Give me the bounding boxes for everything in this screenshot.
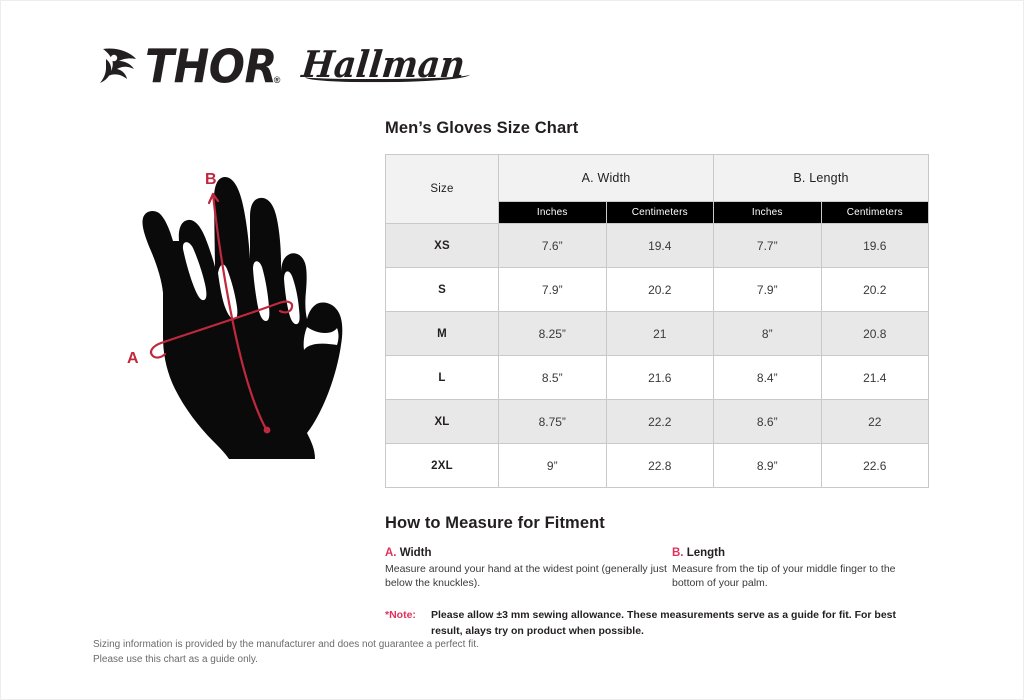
brand-logos: THOR ® Hallman: [97, 45, 465, 89]
how-to-measure-length-heading: B. Length: [672, 547, 929, 559]
hallman-logo: Hallman: [300, 47, 467, 84]
column-header-size: Size: [386, 155, 499, 224]
cell-length-centimeters: 21.4: [821, 356, 929, 400]
cell-length-centimeters: 20.8: [821, 312, 929, 356]
column-header-length-inches: Inches: [714, 202, 822, 224]
how-to-measure-width-letter: A.: [385, 547, 397, 559]
table-head: Size A. Width B. Length Inches Centimete…: [386, 155, 929, 224]
cell-width-centimeters: 22.2: [606, 400, 714, 444]
cell-length-inches: 8.4”: [714, 356, 822, 400]
thor-logo: THOR ®: [97, 45, 280, 89]
cell-length-inches: 8.6”: [714, 400, 822, 444]
thor-wordmark: THOR: [145, 44, 277, 90]
column-header-width-inches: Inches: [499, 202, 607, 224]
glove-illustration: B A: [101, 141, 367, 466]
cell-size: XL: [386, 400, 499, 444]
cell-length-inches: 8.9”: [714, 444, 822, 488]
cell-size: S: [386, 268, 499, 312]
table-row: 2XL 9” 22.8 8.9” 22.6: [386, 444, 929, 488]
cell-size: M: [386, 312, 499, 356]
note-label: *Note:: [385, 608, 431, 638]
chart-content: Men’s Gloves Size Chart Size A. Width B.…: [385, 119, 929, 639]
cell-width-inches: 8.25”: [499, 312, 607, 356]
cell-width-centimeters: 21: [606, 312, 714, 356]
how-to-measure-width-text: Measure around your hand at the widest p…: [385, 562, 672, 590]
cell-width-centimeters: 20.2: [606, 268, 714, 312]
table-head-row-groups: Size A. Width B. Length: [386, 155, 929, 202]
cell-length-inches: 8”: [714, 312, 822, 356]
how-to-measure-columns: A. Width Measure around your hand at the…: [385, 547, 929, 590]
how-to-measure-width-name: Width: [400, 547, 432, 559]
how-to-measure-length-text: Measure from the tip of your middle fing…: [672, 562, 929, 590]
how-to-measure-section: How to Measure for Fitment A. Width Meas…: [385, 514, 929, 639]
column-group-width: A. Width: [499, 155, 714, 202]
thor-helmet-hammer-icon: [97, 45, 143, 89]
size-chart-table: Size A. Width B. Length Inches Centimete…: [385, 154, 929, 488]
cell-width-centimeters: 21.6: [606, 356, 714, 400]
how-to-measure-width-heading: A. Width: [385, 547, 672, 559]
cell-size: 2XL: [386, 444, 499, 488]
cell-length-inches: 7.7”: [714, 224, 822, 268]
table-row: XL 8.75” 22.2 8.6” 22: [386, 400, 929, 444]
note-text: Please allow ±3 mm sewing allowance. The…: [431, 608, 926, 638]
how-to-measure-width: A. Width Measure around your hand at the…: [385, 547, 672, 590]
cell-width-inches: 7.6”: [499, 224, 607, 268]
note-block: *Note: Please allow ±3 mm sewing allowan…: [385, 608, 929, 638]
table-row: S 7.9” 20.2 7.9” 20.2: [386, 268, 929, 312]
how-to-measure-length-letter: B.: [672, 547, 684, 559]
measure-label-a: A: [127, 350, 139, 367]
hand-glove-silhouette-icon: B A: [101, 141, 367, 466]
cell-width-inches: 8.5”: [499, 356, 607, 400]
cell-length-centimeters: 20.2: [821, 268, 929, 312]
cell-length-centimeters: 22: [821, 400, 929, 444]
column-header-width-centimeters: Centimeters: [606, 202, 714, 224]
column-header-length-centimeters: Centimeters: [821, 202, 929, 224]
table-row: L 8.5” 21.6 8.4” 21.4: [386, 356, 929, 400]
table-row: XS 7.6” 19.4 7.7” 19.6: [386, 224, 929, 268]
how-to-measure-title: How to Measure for Fitment: [385, 514, 929, 533]
cell-length-centimeters: 19.6: [821, 224, 929, 268]
footer-line-1: Sizing information is provided by the ma…: [93, 638, 479, 653]
footer-line-2: Please use this chart as a guide only.: [93, 653, 479, 668]
cell-width-inches: 7.9”: [499, 268, 607, 312]
measure-label-b: B: [205, 171, 217, 188]
table-body: XS 7.6” 19.4 7.7” 19.6 S 7.9” 20.2 7.9” …: [386, 224, 929, 488]
cell-width-inches: 9”: [499, 444, 607, 488]
how-to-measure-length: B. Length Measure from the tip of your m…: [672, 547, 929, 590]
size-chart-page: THOR ® Hallman B A: [0, 0, 1024, 700]
cell-width-centimeters: 22.8: [606, 444, 714, 488]
cell-length-centimeters: 22.6: [821, 444, 929, 488]
cell-width-inches: 8.75”: [499, 400, 607, 444]
column-group-length: B. Length: [714, 155, 929, 202]
how-to-measure-length-name: Length: [687, 547, 725, 559]
cell-size: L: [386, 356, 499, 400]
cell-size: XS: [386, 224, 499, 268]
table-row: M 8.25” 21 8” 20.8: [386, 312, 929, 356]
cell-width-centimeters: 19.4: [606, 224, 714, 268]
cell-length-inches: 7.9”: [714, 268, 822, 312]
page-title: Men’s Gloves Size Chart: [385, 119, 929, 138]
footer-disclaimer: Sizing information is provided by the ma…: [93, 638, 479, 667]
